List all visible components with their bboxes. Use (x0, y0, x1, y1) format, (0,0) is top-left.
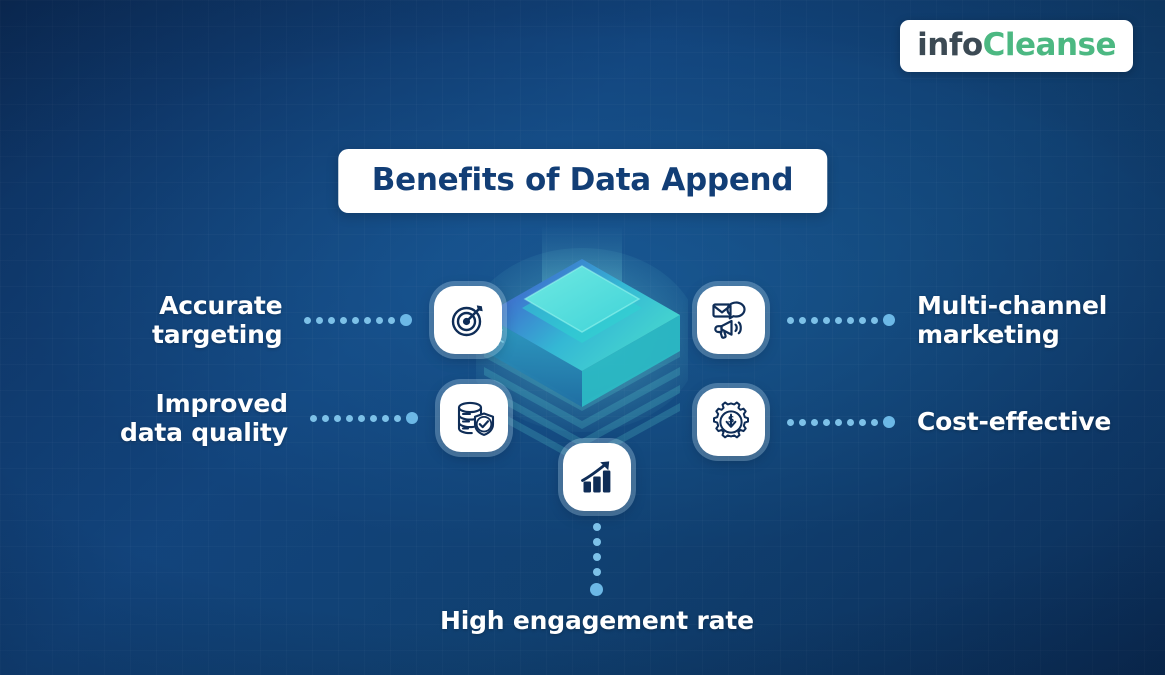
title-pill: Benefits of Data Append (338, 149, 827, 213)
connector-dots-improved-data-quality (310, 412, 418, 424)
connector-dots-accurate-targeting (304, 314, 412, 326)
icon-tile-high-engagement-rate[interactable] (563, 443, 631, 511)
growth-chart-icon (576, 456, 618, 498)
benefit-label-improved-data-quality: Improved data quality (120, 389, 288, 448)
benefit-label-cost-effective: Cost-effective (917, 407, 1111, 437)
logo-text-info: info (917, 27, 982, 63)
gear-cost-down-icon: $ (710, 401, 752, 443)
database-shield-icon (453, 397, 495, 439)
connector-dots-high-engagement-rate (590, 523, 603, 596)
benefit-improved-data-quality[interactable]: Improved data quality (120, 384, 508, 452)
benefit-label-high-engagement-rate: High engagement rate (440, 606, 754, 636)
svg-text:$: $ (728, 415, 735, 426)
benefit-high-engagement-rate[interactable]: High engagement rate (440, 443, 754, 636)
connector-dots-multi-channel-marketing (787, 314, 895, 326)
brand-logo[interactable]: info Cleanse (900, 20, 1133, 72)
icon-tile-accurate-targeting[interactable] (434, 286, 502, 354)
infographic-canvas: info Cleanse Benefits of Data Append (0, 0, 1165, 675)
icon-tile-improved-data-quality[interactable] (440, 384, 508, 452)
benefit-multi-channel-marketing[interactable]: Multi-channel marketing (697, 286, 1107, 354)
benefit-label-multi-channel-marketing: Multi-channel marketing (917, 291, 1107, 350)
logo-text-cleanse: Cleanse (983, 27, 1116, 63)
email-megaphone-icon (710, 299, 752, 341)
benefit-cost-effective[interactable]: $ Cost-effective (697, 388, 1111, 456)
page-title: Benefits of Data Append (372, 162, 793, 198)
icon-tile-multi-channel-marketing[interactable] (697, 286, 765, 354)
target-icon (448, 300, 488, 340)
benefit-label-accurate-targeting: Accurate targeting (152, 291, 282, 350)
connector-dots-cost-effective (787, 416, 895, 428)
benefit-accurate-targeting[interactable]: Accurate targeting (152, 286, 502, 354)
